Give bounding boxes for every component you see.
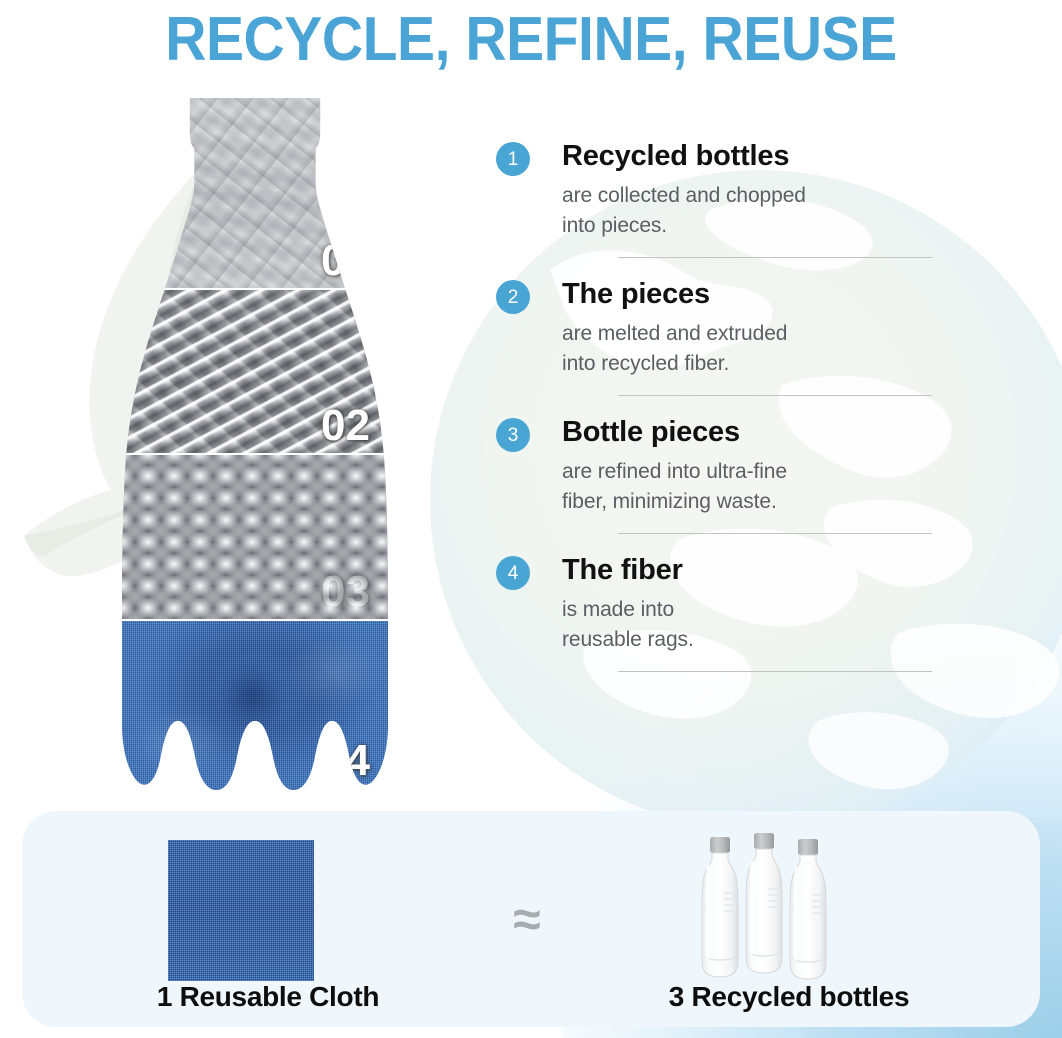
comparison-card: ≈	[22, 811, 1040, 1027]
approximately-equals-icon: ≈	[494, 893, 560, 945]
infographic-page: RECYCLE, REFINE, REUSE 01 02 03	[0, 0, 1062, 1038]
step-description: are melted and extruded into recycled fi…	[562, 319, 932, 379]
step-number-badge: 4	[496, 556, 530, 590]
bottle-segment-03: 03	[122, 455, 388, 621]
step-description-line: are melted and extruded	[562, 319, 932, 349]
recycled-bottles-image	[700, 829, 860, 987]
step-title: The fiber	[562, 552, 932, 588]
bottle-segment-02: 02	[122, 290, 388, 455]
bottle-segment-number: 02	[321, 401, 370, 451]
step-description-line: into pieces.	[562, 211, 932, 241]
step-description-line: reusable rags.	[562, 625, 932, 655]
comparison-left-label: 1 Reusable Cloth	[118, 977, 418, 1017]
step-description-line: into recycled fiber.	[562, 349, 932, 379]
bottle-segment-number: 01	[321, 236, 370, 286]
bottle-segment-01: 01	[122, 98, 388, 290]
page-title: RECYCLE, REFINE, REUSE	[42, 2, 1019, 78]
bottle-diagram: 01 02 03 04	[122, 98, 388, 790]
step-description: are collected and chopped into pieces.	[562, 181, 932, 241]
step-divider	[618, 395, 932, 396]
step-title: Recycled bottles	[562, 138, 932, 174]
step-title: The pieces	[562, 276, 932, 312]
step-number-badge: 2	[496, 280, 530, 314]
step-divider	[618, 671, 932, 672]
step-item: 2 The pieces are melted and extruded int…	[496, 276, 932, 402]
steps-list: 1 Recycled bottles are collected and cho…	[496, 138, 932, 678]
step-description-line: is made into	[562, 595, 932, 625]
cloth-swatch-image	[168, 840, 314, 981]
step-divider	[618, 533, 932, 534]
step-description-line: are collected and chopped	[562, 181, 932, 211]
step-description-line: are refined into ultra-fine	[562, 457, 932, 487]
step-item: 4 The fiber is made into reusable rags.	[496, 552, 932, 678]
comparison-right-label: 3 Recycled bottles	[634, 977, 944, 1017]
bottle-segment-04: 04	[122, 621, 388, 790]
step-description: are refined into ultra-fine fiber, minim…	[562, 457, 932, 517]
step-description-line: fiber, minimizing waste.	[562, 487, 932, 517]
bottle-segment-number: 04	[321, 736, 370, 786]
step-number-badge: 3	[496, 418, 530, 452]
step-item: 1 Recycled bottles are collected and cho…	[496, 138, 932, 264]
step-title: Bottle pieces	[562, 414, 932, 450]
step-item: 3 Bottle pieces are refined into ultra-f…	[496, 414, 932, 540]
comparison-labels: 1 Reusable Cloth 3 Recycled bottles	[22, 977, 1040, 1023]
bottle-segment-number: 03	[321, 567, 370, 617]
step-description: is made into reusable rags.	[562, 595, 932, 655]
step-number-badge: 1	[496, 142, 530, 176]
step-divider	[618, 257, 932, 258]
